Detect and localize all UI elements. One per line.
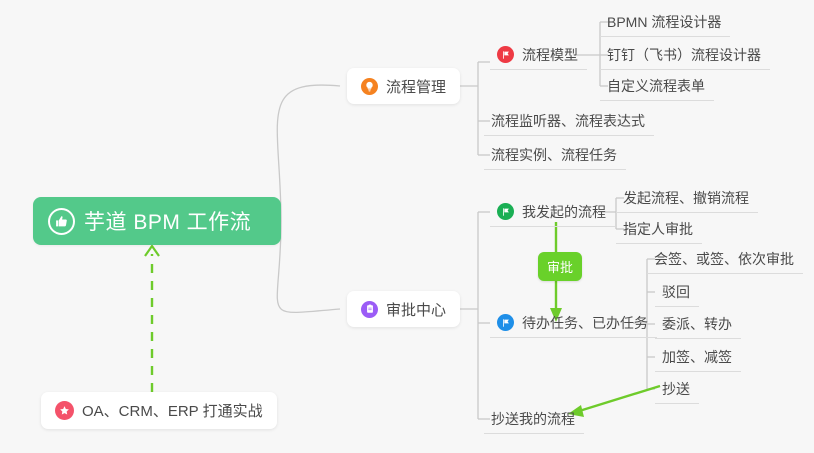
node-my-initiated-process-label: 我发起的流程 [522, 202, 606, 222]
approval-badge[interactable]: 审批 [538, 252, 582, 281]
flag-icon [497, 46, 514, 63]
node-bpmn-designer[interactable]: BPMN 流程设计器 [600, 7, 730, 37]
branch-approval-center[interactable]: 审批中心 [347, 291, 460, 327]
root-node-label: 芋道 BPM 工作流 [84, 206, 251, 236]
node-process-instance-task-label: 流程实例、流程任务 [491, 145, 617, 165]
flag-icon [497, 203, 514, 220]
node-todo-done-tasks-label: 待办任务、已办任务 [522, 313, 648, 333]
star-icon [55, 401, 74, 420]
node-bpmn-designer-label: BPMN 流程设计器 [607, 12, 721, 32]
node-dingtalk-feishu-designer[interactable]: 钉钉（飞书）流程设计器 [600, 40, 770, 70]
lightbulb-icon [361, 78, 378, 95]
branch-process-management[interactable]: 流程管理 [347, 68, 460, 104]
node-process-instance-task[interactable]: 流程实例、流程任务 [484, 140, 626, 170]
node-my-initiated-process[interactable]: 我发起的流程 [490, 197, 615, 227]
node-carbon-copy-label: 抄送 [662, 379, 690, 399]
node-todo-done-tasks[interactable]: 待办任务、已办任务 [490, 308, 657, 338]
node-process-model[interactable]: 流程模型 [490, 40, 587, 70]
approval-badge-label: 审批 [547, 257, 573, 276]
node-custom-process-form[interactable]: 自定义流程表单 [600, 71, 714, 101]
note-oa-crm-erp[interactable]: OA、CRM、ERP 打通实战 [41, 392, 277, 429]
node-custom-process-form-label: 自定义流程表单 [607, 76, 705, 96]
node-start-cancel-process-label: 发起流程、撤销流程 [623, 188, 749, 208]
node-add-remove-sign[interactable]: 加签、减签 [655, 342, 741, 372]
node-start-cancel-process[interactable]: 发起流程、撤销流程 [616, 183, 758, 213]
branch-approval-center-label: 审批中心 [386, 299, 446, 320]
node-dingtalk-feishu-designer-label: 钉钉（飞书）流程设计器 [607, 45, 761, 65]
node-delegate-transfer[interactable]: 委派、转办 [655, 309, 741, 339]
link-root-to-process-management [277, 85, 340, 221]
node-assignee-approval-label: 指定人审批 [623, 219, 693, 239]
node-process-model-label: 流程模型 [522, 45, 578, 65]
node-cc-to-me-process[interactable]: 抄送我的流程 [484, 404, 584, 434]
node-counter-or-sequential-sign[interactable]: 会签、或签、依次审批 [647, 244, 803, 274]
thumbs-up-icon [48, 208, 75, 235]
node-process-listener-expression[interactable]: 流程监听器、流程表达式 [484, 106, 654, 136]
node-cc-to-me-process-label: 抄送我的流程 [491, 409, 575, 429]
mindmap-canvas: 芋道 BPM 工作流 流程管理 流程模型 BPMN 流程设计器 钉钉（飞书）流程… [0, 0, 814, 453]
clipboard-icon [361, 301, 378, 318]
node-counter-or-sequential-sign-label: 会签、或签、依次审批 [654, 249, 794, 269]
node-process-listener-expression-label: 流程监听器、流程表达式 [491, 111, 645, 131]
node-reject-label: 驳回 [662, 282, 690, 302]
arrow-integration-head [145, 246, 159, 256]
node-assignee-approval[interactable]: 指定人审批 [616, 214, 702, 244]
root-node[interactable]: 芋道 BPM 工作流 [33, 197, 281, 245]
flag-icon [497, 314, 514, 331]
node-reject[interactable]: 驳回 [655, 277, 699, 307]
arrow-cc-flow [576, 386, 660, 412]
node-delegate-transfer-label: 委派、转办 [662, 314, 732, 334]
node-carbon-copy[interactable]: 抄送 [655, 374, 699, 404]
node-add-remove-sign-label: 加签、减签 [662, 347, 732, 367]
note-oa-crm-erp-label: OA、CRM、ERP 打通实战 [82, 400, 263, 421]
branch-process-management-label: 流程管理 [386, 76, 446, 97]
link-root-to-approval-center [277, 221, 340, 312]
